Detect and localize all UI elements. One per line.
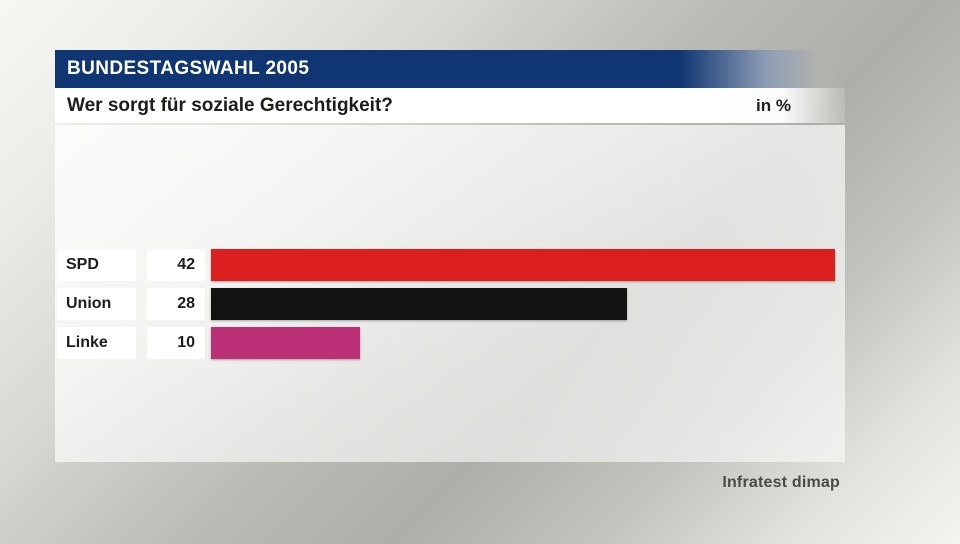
bar-linke — [211, 327, 360, 359]
bar-value: 10 — [177, 334, 195, 352]
bar-union — [211, 288, 627, 320]
chart-header: BUNDESTAGSWAHL 2005 Wer sorgt für sozial… — [55, 50, 845, 123]
bar-value-cell: 42 — [147, 249, 205, 281]
page-title: BUNDESTAGSWAHL 2005 — [55, 58, 309, 80]
column-gap — [136, 327, 147, 359]
bar-value: 28 — [177, 295, 195, 313]
bar-value: 42 — [177, 256, 195, 274]
subtitle-bar: Wer sorgt für soziale Gerechtigkeit? in … — [55, 88, 845, 123]
bar-value-cell: 28 — [147, 288, 205, 320]
chart-question: Wer sorgt für soziale Gerechtigkeit? — [67, 95, 393, 117]
bar-track — [211, 249, 835, 281]
bar-spd — [211, 249, 835, 281]
column-gap — [136, 249, 147, 281]
table-row: SPD 42 — [57, 249, 835, 281]
bar-track — [211, 288, 627, 320]
source-credit: Infratest dimap — [722, 474, 840, 492]
bar-label: Union — [66, 295, 111, 313]
bar-label: Linke — [66, 334, 108, 352]
bar-label-cell: Union — [57, 288, 136, 320]
bar-track — [211, 327, 360, 359]
bar-value-cell: 10 — [147, 327, 205, 359]
bar-label-cell: Linke — [57, 327, 136, 359]
bar-chart: SPD 42 Union 28 Linke 10 — [57, 249, 835, 366]
table-row: Union 28 — [57, 288, 835, 320]
table-row: Linke 10 — [57, 327, 835, 359]
bar-label: SPD — [66, 256, 99, 274]
column-gap — [136, 288, 147, 320]
unit-label: in % — [756, 96, 845, 116]
bar-label-cell: SPD — [57, 249, 136, 281]
title-bar: BUNDESTAGSWAHL 2005 — [55, 50, 845, 88]
